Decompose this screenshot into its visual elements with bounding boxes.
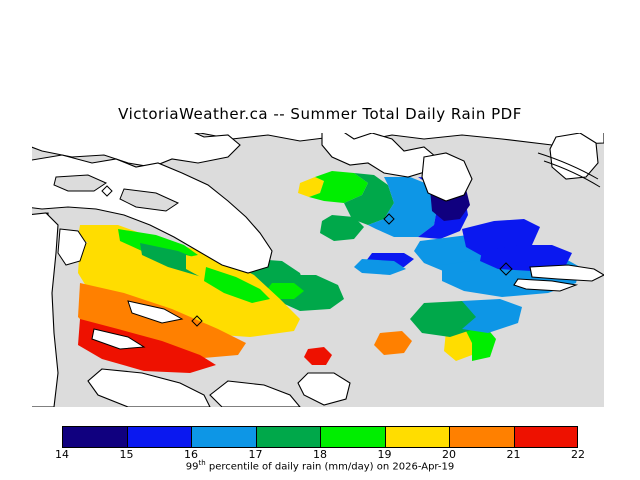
colorbar-band-19-20 [385,426,450,448]
colorbar-band-18-19 [320,426,385,448]
colorbar-band-14-15 [62,426,127,448]
colorbar-band-20-21 [449,426,514,448]
caption-percentile-number: 99 [186,461,199,472]
colorbar-band-21-22 [514,426,579,448]
landmass-island-c [550,133,598,179]
page-title: VictoriaWeather.ca -- Summer Total Daily… [0,105,640,123]
colorbar-caption: 99th percentile of daily rain (mm/day) o… [0,459,640,472]
colorbar [62,426,578,448]
map-svg [32,133,604,407]
colorbar-band-17-18 [256,426,321,448]
rainfall-contour-map [32,133,604,407]
caption-text: percentile of daily rain (mm/day) on 202… [206,461,455,472]
caption-percentile-suffix: th [199,459,206,467]
colorbar-band-15-16 [127,426,192,448]
colorbar-band-16-17 [191,426,256,448]
